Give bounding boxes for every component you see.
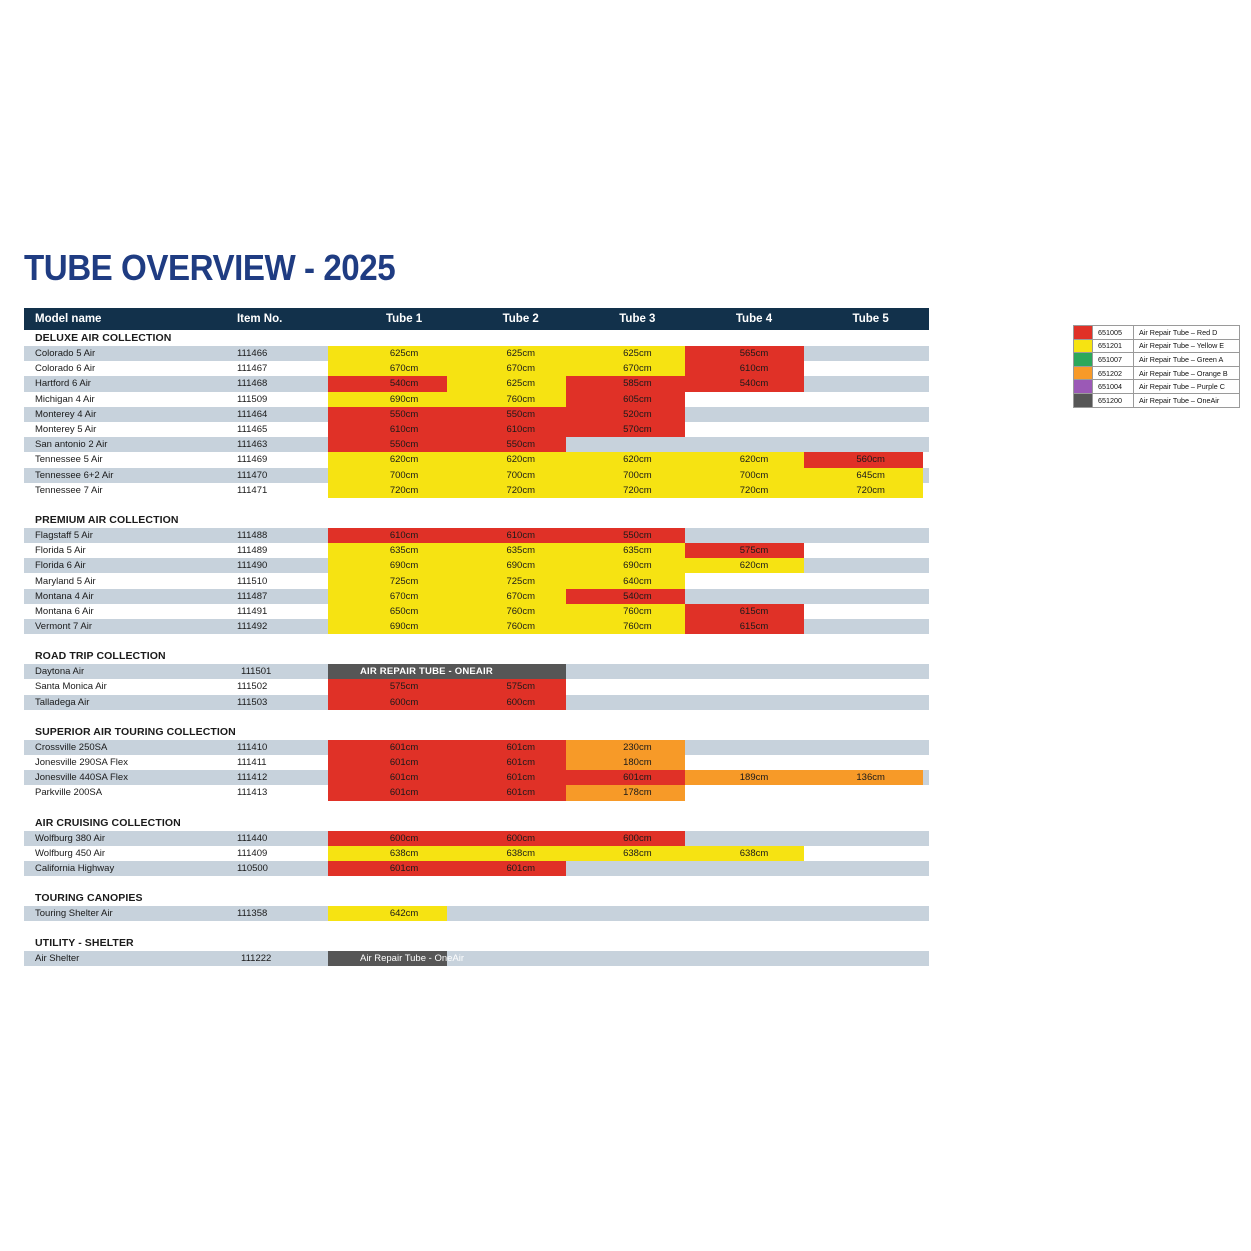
cell-model-name: Santa Monica Air	[24, 681, 235, 692]
cell-tube-3: 605cm	[579, 394, 696, 405]
tube-overview-table: Model name Item No. Tube 1 Tube 2 Tube 3…	[24, 308, 929, 966]
cell-model-name: Vermont 7 Air	[24, 621, 235, 632]
cell-tube-3: 638cm	[579, 848, 696, 859]
cell-tube-3: 585cm	[579, 378, 696, 389]
legend-color-swatch	[1074, 353, 1092, 366]
cell-tube-1: 690cm	[346, 560, 463, 571]
row-text: Daytona Air111501AIR REPAIR TUBE - ONEAI…	[24, 666, 929, 677]
cell-tube-4: 540cm	[696, 378, 813, 389]
table-row[interactable]: Montana 6 Air111491650cm760cm760cm615cm	[24, 604, 929, 619]
section-title: DELUXE AIR COLLECTION	[24, 330, 929, 346]
cell-item-number: 111413	[235, 787, 346, 798]
table-row[interactable]: Tennessee 6+2 Air111470700cm700cm700cm70…	[24, 468, 929, 483]
table-row[interactable]: Michigan 4 Air111509690cm760cm605cm	[24, 392, 929, 407]
cell-item-number: 110500	[235, 863, 346, 874]
cell-tube-3: 620cm	[579, 454, 696, 465]
cell-span-label: Air Repair Tube - OneAir	[352, 953, 471, 964]
cell-item-number: 111358	[235, 908, 346, 919]
table-row[interactable]: Hartford 6 Air111468540cm625cm585cm540cm	[24, 376, 929, 391]
cell-tube-2: 620cm	[462, 454, 579, 465]
row-text: Tennessee 6+2 Air111470700cm700cm700cm70…	[24, 470, 929, 481]
cell-tube-1: 642cm	[346, 908, 463, 919]
cell-item-number: 111510	[235, 576, 346, 587]
cell-item-number: 111412	[235, 772, 346, 783]
cell-item-number: 111492	[235, 621, 346, 632]
cell-model-name: Hartford 6 Air	[24, 378, 235, 389]
cell-item-number: 111491	[235, 606, 346, 617]
cell-tube-1: 720cm	[346, 485, 463, 496]
cell-model-name: Monterey 4 Air	[24, 409, 235, 420]
cell-tube-3: 635cm	[579, 545, 696, 556]
cell-tube-2: 600cm	[462, 697, 579, 708]
cell-item-number: 111487	[235, 591, 346, 602]
section-spacer	[24, 876, 929, 890]
table-row[interactable]: Jonesville 290SA Flex111411601cm601cm180…	[24, 755, 929, 770]
cell-tube-2: 720cm	[462, 485, 579, 496]
cell-model-name: Florida 5 Air	[24, 545, 235, 556]
cell-model-name: Air Shelter	[24, 953, 239, 964]
legend-item-name: Air Repair Tube – OneAir	[1134, 394, 1239, 407]
section-title: PREMIUM AIR COLLECTION	[24, 512, 929, 528]
cell-tube-1: 600cm	[346, 697, 463, 708]
legend-row: 651004Air Repair Tube – Purple C	[1074, 379, 1239, 393]
table-row[interactable]: Flagstaff 5 Air111488610cm610cm550cm	[24, 528, 929, 543]
cell-tube-1: 600cm	[346, 833, 463, 844]
legend-item-code: 651202	[1092, 367, 1134, 380]
cell-model-name: Jonesville 290SA Flex	[24, 757, 235, 768]
cell-tube-2: 601cm	[462, 742, 579, 753]
cell-model-name: Jonesville 440SA Flex	[24, 772, 235, 783]
legend-row: 651200Air Repair Tube – OneAir	[1074, 393, 1239, 407]
legend-box: 651005Air Repair Tube – Red D651201Air R…	[1073, 325, 1240, 408]
row-text: Parkville 200SA111413601cm601cm178cm	[24, 787, 929, 798]
table-header-row: Model name Item No. Tube 1 Tube 2 Tube 3…	[24, 308, 929, 330]
row-text: Talladega Air111503600cm600cm	[24, 697, 929, 708]
page-title: TUBE OVERVIEW - 2025	[24, 247, 395, 289]
cell-tube-1: 550cm	[346, 409, 463, 420]
cell-tube-1: 638cm	[346, 848, 463, 859]
cell-span-label: AIR REPAIR TUBE - ONEAIR	[352, 666, 590, 677]
cell-item-number: 111466	[235, 348, 346, 359]
cell-tube-1: 725cm	[346, 576, 463, 587]
cell-tube-1: 670cm	[346, 363, 463, 374]
table-row[interactable]: Wolfburg 450 Air111409638cm638cm638cm638…	[24, 846, 929, 861]
cell-tube-1: 650cm	[346, 606, 463, 617]
cell-tube-2: 638cm	[462, 848, 579, 859]
row-text: Santa Monica Air111502575cm575cm	[24, 681, 929, 692]
cell-tube-3: 180cm	[579, 757, 696, 768]
cell-tube-3: 625cm	[579, 348, 696, 359]
cell-tube-1: 610cm	[346, 530, 463, 541]
cell-item-number: 111469	[235, 454, 346, 465]
row-text: Tennessee 5 Air111469620cm620cm620cm620c…	[24, 454, 929, 465]
table-row[interactable]: Wolfburg 380 Air111440600cm600cm600cm	[24, 831, 929, 846]
cell-tube-3: 760cm	[579, 606, 696, 617]
row-text: Flagstaff 5 Air111488610cm610cm550cm	[24, 530, 929, 541]
cell-tube-1: 690cm	[346, 621, 463, 632]
row-text: Wolfburg 450 Air111409638cm638cm638cm638…	[24, 848, 929, 859]
table-row[interactable]: Monterey 5 Air111465610cm610cm570cm	[24, 422, 929, 437]
section-title: SUPERIOR AIR TOURING COLLECTION	[24, 724, 929, 740]
cell-item-number: 111488	[235, 530, 346, 541]
legend-item-code: 651005	[1092, 326, 1134, 339]
table-row[interactable]: Colorado 6 Air111467670cm670cm670cm610cm	[24, 361, 929, 376]
cell-tube-4: 720cm	[696, 485, 813, 496]
legend-row: 651201Air Repair Tube – Yellow E	[1074, 339, 1239, 353]
table-row[interactable]: California Highway110500601cm601cm	[24, 861, 929, 876]
row-text: Maryland 5 Air111510725cm725cm640cm	[24, 576, 929, 587]
cell-tube-1: 625cm	[346, 348, 463, 359]
section-title: ROAD TRIP COLLECTION	[24, 648, 929, 664]
cell-model-name: Daytona Air	[24, 666, 239, 677]
cell-tube-3: 700cm	[579, 470, 696, 481]
cell-model-name: Parkville 200SA	[24, 787, 235, 798]
table-row[interactable]: Santa Monica Air111502575cm575cm	[24, 679, 929, 694]
legend-color-swatch	[1074, 394, 1092, 407]
row-text: San antonio 2 Air111463550cm550cm	[24, 439, 929, 450]
legend-item-name: Air Repair Tube – Purple C	[1134, 380, 1239, 393]
row-text: Michigan 4 Air111509690cm760cm605cm	[24, 394, 929, 405]
section-spacer	[24, 921, 929, 935]
cell-tube-3: 601cm	[579, 772, 696, 783]
cell-tube-2: 610cm	[462, 424, 579, 435]
section-spacer	[24, 498, 929, 512]
cell-tube-2: 601cm	[462, 757, 579, 768]
cell-tube-3: 640cm	[579, 576, 696, 587]
cell-item-number: 111465	[235, 424, 346, 435]
cell-tube-2: 725cm	[462, 576, 579, 587]
cell-model-name: Michigan 4 Air	[24, 394, 235, 405]
cell-model-name: Montana 6 Air	[24, 606, 235, 617]
cell-item-number: 111501	[239, 666, 352, 677]
legend-color-swatch	[1074, 326, 1092, 339]
cell-model-name: Wolfburg 380 Air	[24, 833, 235, 844]
cell-item-number: 111503	[235, 697, 346, 708]
cell-tube-4: 700cm	[696, 470, 813, 481]
cell-model-name: Flagstaff 5 Air	[24, 530, 235, 541]
cell-tube-2: 670cm	[462, 363, 579, 374]
row-text: Jonesville 440SA Flex111412601cm601cm601…	[24, 772, 929, 783]
cell-tube-1: 540cm	[346, 378, 463, 389]
legend-color-swatch	[1074, 367, 1092, 380]
cell-tube-1: 601cm	[346, 863, 463, 874]
cell-tube-1: 620cm	[346, 454, 463, 465]
legend-row: 651202Air Repair Tube – Orange B	[1074, 366, 1239, 380]
cell-tube-1: 690cm	[346, 394, 463, 405]
cell-tube-1: 601cm	[346, 787, 463, 798]
cell-tube-2: 575cm	[462, 681, 579, 692]
column-header-tube4: Tube 4	[696, 313, 813, 325]
row-text: Colorado 5 Air111466625cm625cm625cm565cm	[24, 348, 929, 359]
cell-tube-4: 620cm	[696, 454, 813, 465]
table-row[interactable]: Tennessee 7 Air111471720cm720cm720cm720c…	[24, 483, 929, 498]
cell-item-number: 111490	[235, 560, 346, 571]
row-text: Colorado 6 Air111467670cm670cm670cm610cm	[24, 363, 929, 374]
row-text: Hartford 6 Air111468540cm625cm585cm540cm	[24, 378, 929, 389]
cell-model-name: Tennessee 7 Air	[24, 485, 235, 496]
cell-model-name: Crossville 250SA	[24, 742, 235, 753]
row-text: California Highway110500601cm601cm	[24, 863, 929, 874]
row-text: Tennessee 7 Air111471720cm720cm720cm720c…	[24, 485, 929, 496]
row-text: Monterey 5 Air111465610cm610cm570cm	[24, 424, 929, 435]
cell-model-name: California Highway	[24, 863, 235, 874]
cell-item-number: 111410	[235, 742, 346, 753]
cell-tube-3: 670cm	[579, 363, 696, 374]
cell-model-name: Touring Shelter Air	[24, 908, 235, 919]
cell-model-name: Colorado 6 Air	[24, 363, 235, 374]
row-text: Jonesville 290SA Flex111411601cm601cm180…	[24, 757, 929, 768]
cell-model-name: Montana 4 Air	[24, 591, 235, 602]
cell-tube-2: 760cm	[462, 394, 579, 405]
legend-item-name: Air Repair Tube – Yellow E	[1134, 340, 1239, 353]
cell-tube-5: 645cm	[812, 470, 929, 481]
cell-tube-2: 760cm	[462, 621, 579, 632]
cell-model-name: Tennessee 6+2 Air	[24, 470, 235, 481]
legend-item-name: Air Repair Tube – Red D	[1134, 326, 1239, 339]
cell-item-number: 111440	[235, 833, 346, 844]
cell-item-number: 111468	[235, 378, 346, 389]
cell-tube-2: 700cm	[462, 470, 579, 481]
cell-tube-1: 700cm	[346, 470, 463, 481]
column-header-tube5: Tube 5	[812, 313, 929, 325]
column-header-item: Item No.	[235, 313, 346, 325]
table-row[interactable]: Maryland 5 Air111510725cm725cm640cm	[24, 573, 929, 588]
cell-tube-2: 635cm	[462, 545, 579, 556]
table-row[interactable]: Vermont 7 Air111492690cm760cm760cm615cm	[24, 619, 929, 634]
row-text: Crossville 250SA111410601cm601cm230cm	[24, 742, 929, 753]
table-row[interactable]: Touring Shelter Air111358642cm	[24, 906, 929, 921]
section-title: AIR CRUISING COLLECTION	[24, 815, 929, 831]
cell-tube-3: 550cm	[579, 530, 696, 541]
cell-tube-1: 601cm	[346, 742, 463, 753]
cell-model-name: Wolfburg 450 Air	[24, 848, 235, 859]
cell-item-number: 111489	[235, 545, 346, 556]
cell-tube-1: 550cm	[346, 439, 463, 450]
table-row[interactable]: Florida 6 Air111490690cm690cm690cm620cm	[24, 558, 929, 573]
cell-tube-2: 760cm	[462, 606, 579, 617]
row-text: Wolfburg 380 Air111440600cm600cm600cm	[24, 833, 929, 844]
cell-item-number: 111464	[235, 409, 346, 420]
cell-item-number: 111502	[235, 681, 346, 692]
table-row[interactable]: Colorado 5 Air111466625cm625cm625cm565cm	[24, 346, 929, 361]
legend-item-name: Air Repair Tube – Orange B	[1134, 367, 1239, 380]
column-header-tube3: Tube 3	[579, 313, 696, 325]
cell-tube-2: 690cm	[462, 560, 579, 571]
table-row[interactable]: Crossville 250SA111410601cm601cm230cm	[24, 740, 929, 755]
table-row[interactable]: San antonio 2 Air111463550cm550cm	[24, 437, 929, 452]
cell-model-name: Monterey 5 Air	[24, 424, 235, 435]
cell-tube-2: 610cm	[462, 530, 579, 541]
cell-model-name: San antonio 2 Air	[24, 439, 235, 450]
page-canvas: TUBE OVERVIEW - 2025 Model name Item No.…	[0, 0, 1251, 1251]
cell-tube-3: 570cm	[579, 424, 696, 435]
cell-tube-4: 620cm	[696, 560, 813, 571]
cell-tube-4: 610cm	[696, 363, 813, 374]
cell-model-name: Talladega Air	[24, 697, 235, 708]
section-title: UTILITY - SHELTER	[24, 935, 929, 951]
cell-tube-2: 550cm	[462, 409, 579, 420]
cell-tube-3: 720cm	[579, 485, 696, 496]
cell-tube-5: 560cm	[812, 454, 929, 465]
cell-tube-4: 615cm	[696, 606, 813, 617]
legend-item-code: 651200	[1092, 394, 1134, 407]
cell-tube-3: 230cm	[579, 742, 696, 753]
cell-item-number: 111463	[235, 439, 346, 450]
cell-tube-5: 720cm	[812, 485, 929, 496]
cell-tube-1: 601cm	[346, 772, 463, 783]
cell-tube-4: 615cm	[696, 621, 813, 632]
row-text: Touring Shelter Air111358642cm	[24, 908, 929, 919]
cell-tube-5: 136cm	[812, 772, 929, 783]
legend-item-name: Air Repair Tube – Green A	[1134, 353, 1239, 366]
cell-item-number: 111470	[235, 470, 346, 481]
cell-item-number: 111222	[239, 953, 352, 964]
legend-item-code: 651201	[1092, 340, 1134, 353]
legend-item-code: 651007	[1092, 353, 1134, 366]
table-row[interactable]: Parkville 200SA111413601cm601cm178cm	[24, 785, 929, 800]
table-body: DELUXE AIR COLLECTIONColorado 5 Air11146…	[24, 330, 929, 966]
cell-tube-1: 601cm	[346, 757, 463, 768]
cell-item-number: 111409	[235, 848, 346, 859]
cell-tube-4: 189cm	[696, 772, 813, 783]
legend-color-swatch	[1074, 340, 1092, 353]
row-text: Air Shelter111222Air Repair Tube - OneAi…	[24, 953, 929, 964]
cell-tube-3: 178cm	[579, 787, 696, 798]
cell-tube-3: 540cm	[579, 591, 696, 602]
table-row[interactable]: Daytona Air111501AIR REPAIR TUBE - ONEAI…	[24, 664, 929, 679]
cell-item-number: 111411	[235, 757, 346, 768]
table-row[interactable]: Jonesville 440SA Flex111412601cm601cm601…	[24, 770, 929, 785]
cell-tube-2: 601cm	[462, 772, 579, 783]
cell-item-number: 111471	[235, 485, 346, 496]
cell-tube-2: 670cm	[462, 591, 579, 602]
row-text: Monterey 4 Air111464550cm550cm520cm	[24, 409, 929, 420]
row-text: Montana 6 Air111491650cm760cm760cm615cm	[24, 606, 929, 617]
cell-tube-2: 600cm	[462, 833, 579, 844]
column-header-tube2: Tube 2	[462, 313, 579, 325]
cell-tube-4: 575cm	[696, 545, 813, 556]
cell-tube-3: 690cm	[579, 560, 696, 571]
cell-tube-4: 638cm	[696, 848, 813, 859]
cell-tube-1: 575cm	[346, 681, 463, 692]
legend-color-swatch	[1074, 380, 1092, 393]
section-spacer	[24, 801, 929, 815]
cell-tube-3: 760cm	[579, 621, 696, 632]
cell-tube-2: 601cm	[462, 863, 579, 874]
cell-tube-4: 565cm	[696, 348, 813, 359]
cell-tube-3: 520cm	[579, 409, 696, 420]
cell-item-number: 111509	[235, 394, 346, 405]
cell-tube-2: 550cm	[462, 439, 579, 450]
row-text: Vermont 7 Air111492690cm760cm760cm615cm	[24, 621, 929, 632]
section-spacer	[24, 634, 929, 648]
table-row[interactable]: Air Shelter111222Air Repair Tube - OneAi…	[24, 951, 929, 966]
cell-tube-1: 610cm	[346, 424, 463, 435]
cell-tube-2: 601cm	[462, 787, 579, 798]
table-row[interactable]: Monterey 4 Air111464550cm550cm520cm	[24, 407, 929, 422]
cell-tube-2: 625cm	[462, 378, 579, 389]
cell-model-name: Maryland 5 Air	[24, 576, 235, 587]
cell-item-number: 111467	[235, 363, 346, 374]
cell-model-name: Colorado 5 Air	[24, 348, 235, 359]
table-row[interactable]: Florida 5 Air111489635cm635cm635cm575cm	[24, 543, 929, 558]
cell-tube-1: 670cm	[346, 591, 463, 602]
column-header-tube1: Tube 1	[346, 313, 463, 325]
cell-tube-3: 600cm	[579, 833, 696, 844]
table-row[interactable]: Montana 4 Air111487670cm670cm540cm	[24, 589, 929, 604]
legend-item-code: 651004	[1092, 380, 1134, 393]
row-text: Florida 5 Air111489635cm635cm635cm575cm	[24, 545, 929, 556]
section-title: TOURING CANOPIES	[24, 890, 929, 906]
legend-row: 651007Air Repair Tube – Green A	[1074, 352, 1239, 366]
table-row[interactable]: Tennessee 5 Air111469620cm620cm620cm620c…	[24, 452, 929, 467]
cell-model-name: Tennessee 5 Air	[24, 454, 235, 465]
legend-row: 651005Air Repair Tube – Red D	[1074, 326, 1239, 339]
row-text: Montana 4 Air111487670cm670cm540cm	[24, 591, 929, 602]
cell-tube-1: 635cm	[346, 545, 463, 556]
row-text: Florida 6 Air111490690cm690cm690cm620cm	[24, 560, 929, 571]
cell-tube-2: 625cm	[462, 348, 579, 359]
cell-model-name: Florida 6 Air	[24, 560, 235, 571]
table-row[interactable]: Talladega Air111503600cm600cm	[24, 695, 929, 710]
section-spacer	[24, 710, 929, 724]
column-header-model: Model name	[24, 313, 235, 325]
